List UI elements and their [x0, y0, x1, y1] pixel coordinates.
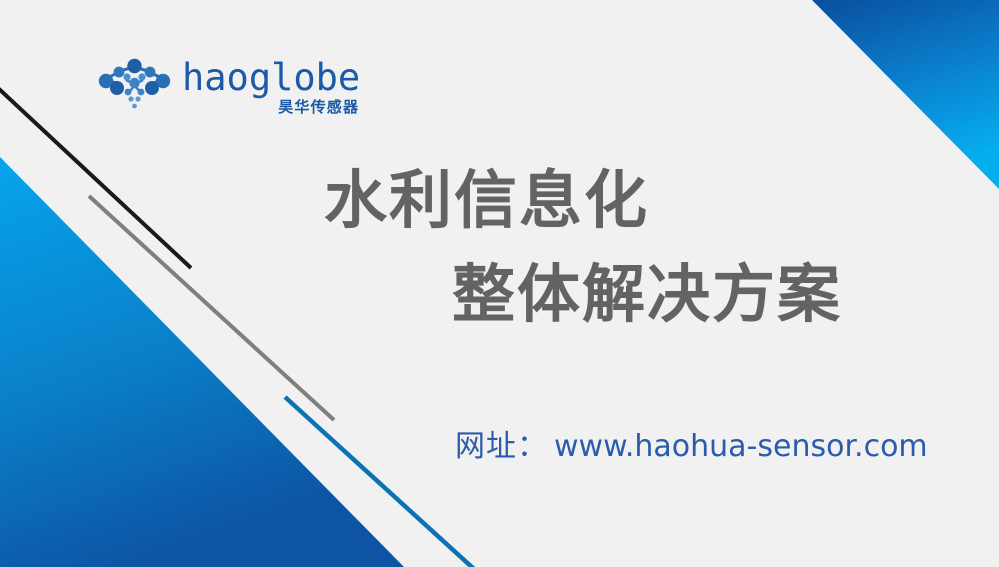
- slide-title-line-2: 整体解决方案: [452, 262, 842, 328]
- logo-subtitle: 昊华传感器: [278, 100, 359, 115]
- haoglobe-network-dots-logo: [96, 58, 174, 116]
- presentation-title-slide: haoglobe 昊华传感器 水利信息化 整体解决方案 网址： www.haoh…: [0, 0, 999, 567]
- company-logo: haoglobe 昊华传感器: [96, 58, 360, 116]
- logo-wordmark: haoglobe: [182, 59, 360, 96]
- website-url[interactable]: www.haohua-sensor.com: [554, 429, 928, 464]
- website-line: 网址： www.haohua-sensor.com: [455, 421, 928, 465]
- website-label: 网址：: [455, 421, 548, 465]
- logo-text-block: haoglobe 昊华传感器: [182, 59, 360, 115]
- slide-title-line-1: 水利信息化: [324, 168, 649, 234]
